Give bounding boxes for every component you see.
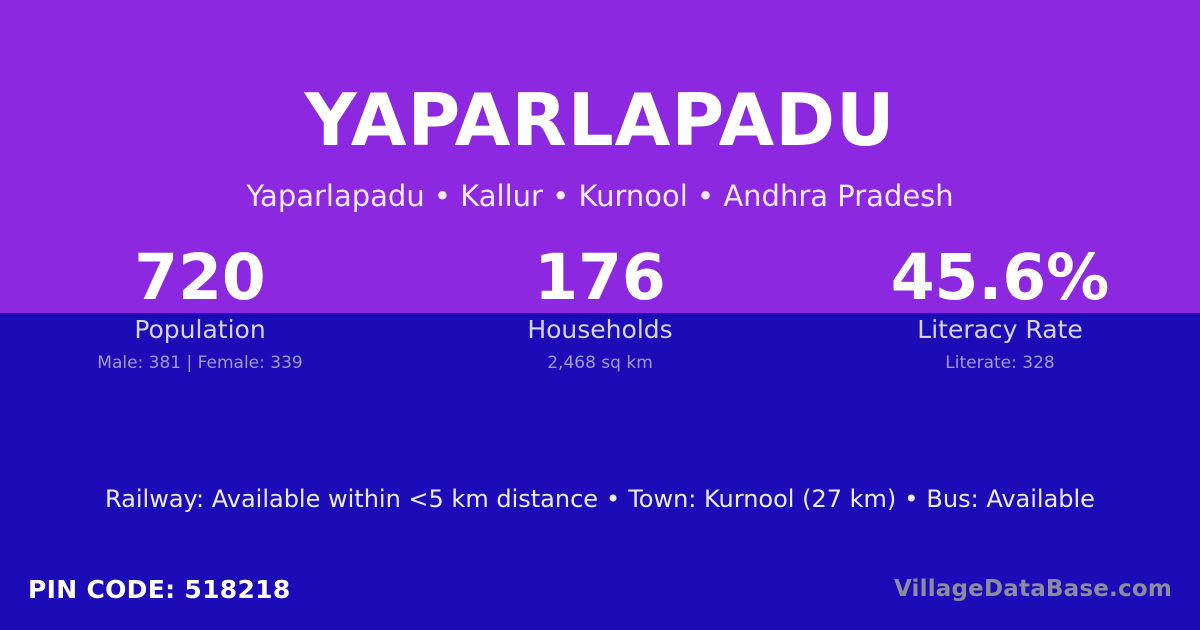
stat-literacy-rate-sub: Literate: 328 [800,355,1200,372]
pin-code: PIN CODE: 518218 [28,577,291,602]
stat-households-value: 176 [400,246,800,308]
stat-households-sub: 2,468 sq km [400,355,800,372]
stat-literacy-rate-value: 45.6% [800,246,1200,308]
stat-population-sub: Male: 381 | Female: 339 [0,355,400,372]
stat-literacy-rate: 45.6% Literacy Rate Literate: 328 [800,246,1200,372]
brand-watermark: VillageDataBase.com [894,578,1172,601]
bullet-separator-icon: • [598,485,628,513]
amenities-line: Railway: Available within <5 km distance… [0,485,1200,514]
stat-population-value: 720 [0,246,400,308]
stat-population-label: Population [0,317,400,342]
stat-literacy-rate-label: Literacy Rate [800,317,1200,342]
stat-households: 176 Households 2,468 sq km [400,246,800,372]
stat-households-label: Households [400,317,800,342]
railway-info: Railway: Available within <5 km distance [105,485,598,513]
amenities-info-bar: Railway: Available within <5 km distance… [0,485,1200,514]
town-info: Town: Kurnool (27 km) [628,485,896,513]
stat-population: 720 Population Male: 381 | Female: 339 [0,246,400,372]
village-info-card: YAPARLAPADU Yaparlapadu • Kallur • Kurno… [0,0,1200,630]
breadcrumb: Yaparlapadu • Kallur • Kurnool • Andhra … [0,182,1200,211]
page-title: YAPARLAPADU [0,84,1200,156]
card-footer: PIN CODE: 518218 VillageDataBase.com [0,560,1200,630]
bullet-separator-icon: • [896,485,926,513]
statistics-row: 720 Population Male: 381 | Female: 339 1… [0,246,1200,372]
bus-info: Bus: Available [926,485,1095,513]
card-header: YAPARLAPADU Yaparlapadu • Kallur • Kurno… [0,0,1200,211]
